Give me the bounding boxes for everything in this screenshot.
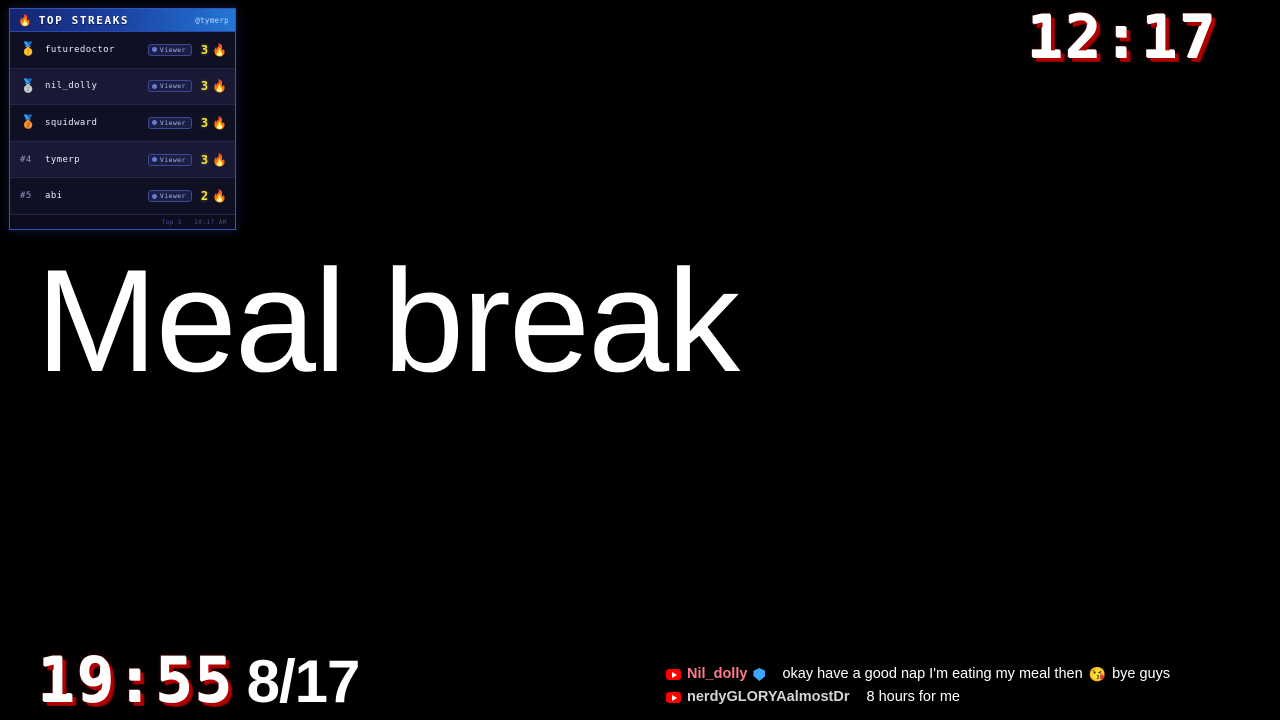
streak-flame-icon: 🔥 [212,117,227,129]
streak-username: abi [42,191,148,201]
led-stream-timer: 19:55 [38,650,235,712]
viewer-dot-icon [152,194,157,199]
streaks-panel-title: TOP STREAKS [39,14,129,27]
streak-username: tymerp [42,155,148,165]
table-row[interactable]: 🥉 squidward Viewer 3 🔥 [10,105,235,142]
streaks-scope-label: Top 5 [162,219,183,226]
page-title: Meal break [36,248,738,394]
streak-flame-icon: 🔥 [212,44,227,56]
member-badge-icon [753,668,765,681]
chat-username: nerdyGLORYAalmostDr [687,689,850,706]
chat-overlay: Nil_dolly okay have a good nap I'm eatin… [666,666,1226,706]
table-row[interactable]: #4 tymerp Viewer 3 🔥 [10,142,235,179]
streaks-list: 🥇 futuredoctor Viewer 3 🔥 🥈 nil_dolly Vi… [10,32,235,215]
table-row[interactable]: #5 abi Viewer 2 🔥 [10,178,235,215]
youtube-icon [666,692,681,703]
stream-timer-group: 19:55 8/17 [38,650,359,712]
top-streaks-panel: 🔥 TOP STREAKS @tymerp 🥇 futuredoctor Vie… [9,8,236,230]
rank-medal-icon: 🥇 [20,43,42,56]
streak-count: 3 [201,153,208,167]
rank-medal-icon: 🥈 [20,80,42,93]
viewer-badge: Viewer [148,44,192,56]
viewer-dot-icon [152,84,157,89]
viewer-badge: Viewer [148,80,192,92]
kissing-face-emoji-icon: 😘 [1089,666,1106,683]
viewer-badge-label: Viewer [160,82,186,90]
youtube-icon [666,669,681,680]
rank-number: #4 [20,155,42,165]
streak-username: nil_dolly [42,81,148,91]
chat-message: nerdyGLORYAalmostDr 8 hours for me [666,689,1226,706]
streak-username: squidward [42,118,148,128]
viewer-badge-label: Viewer [160,192,186,200]
channel-handle: @tymerp [195,16,229,25]
viewer-badge-label: Viewer [160,46,186,54]
chat-message: Nil_dolly okay have a good nap I'm eatin… [666,666,1226,683]
streak-flame-icon: 🔥 [212,154,227,166]
streak-count: 2 [201,189,208,203]
chat-message-text-tail: bye guys [1112,666,1170,683]
streak-count: 3 [201,79,208,93]
streaks-panel-header: 🔥 TOP STREAKS @tymerp [10,9,235,32]
viewer-badge: Viewer [148,154,192,166]
led-clock-top-right: 12:17 [1027,8,1218,68]
table-row[interactable]: 🥇 futuredoctor Viewer 3 🔥 [10,32,235,69]
viewer-badge: Viewer [148,190,192,202]
table-row[interactable]: 🥈 nil_dolly Viewer 3 🔥 [10,69,235,106]
rank-number: #5 [20,191,42,201]
streaks-timestamp: 10:17 AM [194,219,227,226]
viewer-badge-label: Viewer [160,156,186,164]
viewer-badge-label: Viewer [160,119,186,127]
streak-username: futuredoctor [42,45,148,55]
streak-count: 3 [201,116,208,130]
chat-username: Nil_dolly [687,666,747,683]
viewer-badge: Viewer [148,117,192,129]
stream-date: 8/17 [247,651,360,712]
streaks-panel-footer: Top 5 10:17 AM [10,215,235,229]
streak-count: 3 [201,43,208,57]
flame-icon: 🔥 [18,15,32,26]
streak-flame-icon: 🔥 [212,190,227,202]
rank-medal-icon: 🥉 [20,116,42,129]
viewer-dot-icon [152,157,157,162]
chat-message-text: okay have a good nap I'm eating my meal … [782,666,1082,683]
viewer-dot-icon [152,47,157,52]
viewer-dot-icon [152,120,157,125]
chat-message-text: 8 hours for me [867,689,961,706]
streak-flame-icon: 🔥 [212,80,227,92]
